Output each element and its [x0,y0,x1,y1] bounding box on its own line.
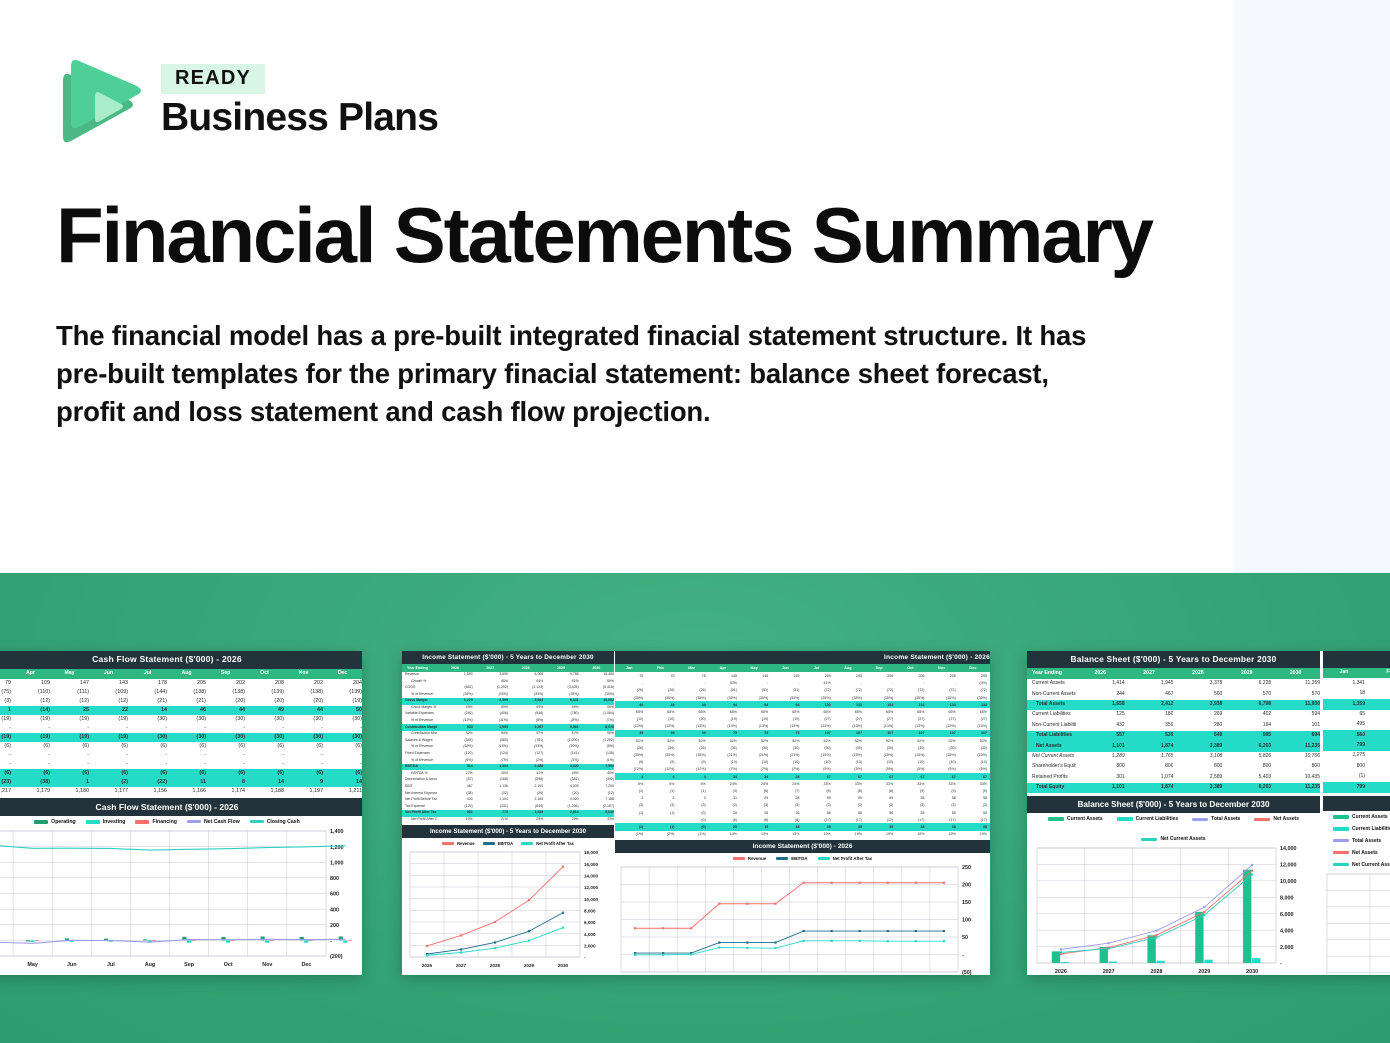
legend-swatch [250,820,264,823]
table-cell: (35%) [709,694,740,701]
table-cell: 570 [1222,689,1271,699]
table-cell: 2,399 [473,698,508,705]
table-cell: 4 [646,773,677,780]
table-cell: 467 [437,784,472,791]
table-cell: 41% [508,770,543,777]
table-cell: 3,938 [1173,700,1222,710]
table-row: 799798 [1323,782,1390,792]
svg-text:-: - [1280,961,1282,967]
table-cell: - [167,724,206,733]
table-cell: (144) [128,688,167,697]
table-cell: 49% [579,770,614,777]
brand-name: Business Plans [161,98,438,139]
table-cell: - [615,680,646,687]
table-cell: (13%) [959,723,990,730]
table-cell: 205 [803,672,834,679]
svg-text:(50): (50) [962,970,972,975]
table-cell: (26) [615,744,646,751]
balance-sheet-title: Balance Sheet ($'000) - 5 Years to Decem… [1027,651,1320,668]
table-row: Gross Margin1,2292,3993,9436,34110,062 [402,698,614,705]
table-cell: 19 [740,823,771,830]
table-cell: 46 [167,706,206,715]
legend-swatch [1141,838,1157,841]
table-cell: 11,359 [1271,679,1320,689]
table-cell: 94 [709,701,740,708]
legend-swatch [521,842,533,845]
table-cell: (1) [615,809,646,816]
table-cell: 50 [323,706,362,715]
table-cell: (20) [245,697,284,706]
table-row: Salaries & Wages(345)(565)(781)(1,000)(1… [402,738,614,745]
table-cell: (13%) [615,723,646,730]
table-cell: (38) [11,778,50,787]
column-header-mar: Mar [678,664,709,672]
legend-swatch [1333,827,1349,831]
table-cell: (11%) [473,718,508,725]
table-cell: (30) [128,733,167,742]
table-cell: 489 [1370,720,1390,730]
table-cell: - [740,680,771,687]
row-label: Fixed Expenses [402,751,437,758]
row-label: Contribution Margin % [402,731,437,738]
table-cell: 560 [1173,689,1222,699]
table-cell: (780) [543,711,578,718]
table-cell: (2) [1370,772,1390,782]
table-cell: (139) [323,688,362,697]
table-cell: (6) [0,742,11,751]
table-cell: 39 [803,823,834,830]
table-cell: - [865,680,896,687]
table-row: Current Assets1,4141,9453,3786,22811,359 [1027,679,1320,689]
table-cell: 67 [803,773,834,780]
table-cell: (10) [834,759,865,766]
table-cell: - [0,724,11,733]
table-cell: 59 [834,795,865,802]
table-row: 757575145145145205205205205205205 [615,672,990,679]
table-title-row [1323,651,1390,668]
table-cell: 65% [709,708,740,715]
legend-label: Current Assets [1067,816,1103,822]
table-cell: 52% [740,737,771,744]
table-cell: (18%) [437,744,472,751]
table-cell: 55 [896,809,927,816]
table-cell: (30) [865,744,896,751]
table-cell: 1,166 [167,787,206,796]
table-row: Net Interest Expense(38)(32)(26)(20)(12) [402,790,614,797]
table-cell: 65% [508,705,543,712]
table-cell: 5,561 [543,724,578,731]
income-5yr-table: Income Statement ($'000) - 5 Years to De… [402,651,614,823]
table-cell: 59 [865,795,896,802]
table-cell: 55 [928,809,959,816]
table-cell: (246) [437,711,472,718]
table-cell: (17) [865,816,896,823]
table-cell: (6) [245,769,284,778]
column-header-aug: Aug [167,669,206,679]
legend-swatch [187,820,201,823]
table-cell: (30) [284,733,323,742]
table-cell: 4 [678,773,709,780]
table-cell: (3) [646,802,677,809]
table-cell: (35%) [543,691,578,698]
table-cell: (7%) [579,718,614,725]
column-header-feb: Feb [646,664,677,672]
table-cell: 1,275 [1323,751,1370,761]
table-cell: (3) [959,802,990,809]
table-cell: (15%) [834,751,865,758]
legend-item: Current Liabilities [1117,816,1179,822]
legend-label: Net Cash Flow [204,819,240,825]
table-cell: 194 [1222,720,1271,730]
table-cell: (35%) [473,691,508,698]
table-cell: 107 [959,730,990,737]
column-header-label [0,669,11,679]
table-cell: 6,006 [508,672,543,679]
table-cell: 595 [1222,731,1271,741]
table-cell: (15%) [865,751,896,758]
row-label: Total Equity [1027,783,1076,793]
table-cell: - [0,751,11,760]
row-label: Current Liabilities [1027,710,1076,720]
table-title-row: Cash Flow Statement ($'000) - 2026 [0,651,362,669]
table-cell: 1,993 [473,724,508,731]
column-header-jun: Jun [89,669,128,679]
legend-item: Closing Cash [250,819,300,825]
row-label: % of Revenue [402,691,437,698]
row-label: Salaries & Wages [402,738,437,745]
legend-label: Operating [51,819,76,825]
table-row: Contribution Margin9831,9933,3975,5618,9… [402,724,614,731]
table-cell: 52% [928,737,959,744]
table-cell: 5,032 [579,810,614,817]
table-cell: 133 [928,701,959,708]
balance-monthly-chart-title [1323,796,1390,811]
svg-text:2028: 2028 [490,963,501,968]
table-cell: 58 [959,795,990,802]
table-cell: 8 [206,778,245,787]
legend-item: Total Assets [1192,816,1240,822]
income-monthly-title: Income Statement ($'000) - 2026 [615,651,990,664]
table-cell: 14 [128,706,167,715]
table-cell: 65 [1323,710,1370,720]
table-cell: (35%) [834,694,865,701]
table-title-row: Income Statement ($'000) - 2026 [615,651,990,664]
svg-text:Dec: Dec [301,962,311,968]
table-cell: (12%) [678,766,709,773]
row-label: Net Current Assets [1027,752,1076,762]
legend-swatch [34,820,48,824]
legend-item: Investing [86,819,126,825]
screenshot-cash-flow[interactable]: Cash Flow Statement ($'000) - 2026AprMay… [0,651,362,975]
table-cell: (3) [771,802,802,809]
table-cell: 10,766 [1271,752,1320,762]
table-cell: 49 [245,706,284,715]
table-cell: 52% [865,737,896,744]
legend-item: Net Profit After Tax [521,841,574,846]
table-cell: (35%) [928,694,959,701]
table-cell: 65% [579,705,614,712]
table-cell: 800 [1125,762,1174,772]
table-cell: (32) [473,790,508,797]
legend-label: Closing Cash [267,819,300,825]
table-cell: (6) [89,742,128,751]
row-label: EBITDA % [402,770,437,777]
row-label: Net Interest Expense [402,790,437,797]
svg-text:250: 250 [962,865,971,871]
table-cell: (13%) [508,744,543,751]
table-cell: 1,515 [508,810,543,817]
table-cell: 1,104 [473,797,508,804]
row-label: Non-Current Liabilities [1027,720,1076,730]
legend-label: EBITDA [791,856,807,861]
table-cell: - [167,760,206,769]
table-cell: (1,084) [579,711,614,718]
table-cell: (9) [678,759,709,766]
legend-label: Financing [152,819,177,825]
table-cell: (120) [437,751,472,758]
table-cell: (19) [771,716,802,723]
play-triangle-logo-icon [57,57,143,145]
table-cell: (6) [245,742,284,751]
table-cell: 24% [771,780,802,787]
table-cell: 798 [1370,782,1390,792]
table-cell: 107 [865,730,896,737]
table-cell: (139) [245,688,284,697]
table-cell: (1%) [543,757,578,764]
table-cell: (26) [678,687,709,694]
table-row: ---93%--41%----(0%) [615,680,990,687]
table-cell: 133 [834,701,865,708]
legend-item: Current Liabilities [1333,826,1390,832]
table-cell: - [284,724,323,733]
income-monthly-chart: 25020015010050-(50)JanFebMarAprMayJunJul… [615,862,990,975]
table-cell: 19% [803,831,834,838]
income-5yr-pane: Income Statement ($'000) - 5 Years to De… [402,651,614,975]
legend-item: EBITDA [776,856,807,861]
table-cell: 8,978 [579,724,614,731]
table-title-row: Balance Sheet ($'000) - 5 Years to Decem… [1027,651,1320,668]
table-cell: 178 [128,679,167,688]
table-cell: (6) [89,769,128,778]
table-cell: 133 [896,701,927,708]
table-row: Non-Current Liabilities432359280194101 [1027,720,1320,730]
table-cell: (30) [323,715,362,724]
column-header-jul: Jul [128,669,167,679]
table-cell: 41% [803,680,834,687]
table-cell: 205 [167,679,206,688]
table-cell: 18 [1323,689,1370,699]
table-cell: 65% [803,708,834,715]
table-cell: 107 [803,730,834,737]
table-cell: - [167,751,206,760]
table-row: (6)(6)(6)(6)(6)(6)(6)(6)(6)(6) [0,769,362,778]
table-cell: 59% [579,678,614,685]
table-cell: (15%) [959,751,990,758]
table-cell: 1,945 [1125,679,1174,689]
table-cell: (35%) [508,691,543,698]
table-cell: (13%) [437,718,472,725]
table-cell [437,678,472,685]
table-cell: 34 [740,773,771,780]
table-cell: 95% [473,678,508,685]
table-row: Growth %95%64%61%59% [402,678,614,685]
table-cell: 28 [771,795,802,802]
legend-label: Net Profit After Tax [536,841,574,846]
screenshot-balance-sheet[interactable]: Balance Sheet ($'000) - 5 Years to Decem… [1027,651,1390,975]
table-cell: 15,480 [579,672,614,679]
table-row: (13%)(13%)(13%)(13%)(13%)(13%)(13%)(13%)… [615,723,990,730]
table-cell: (7) [771,787,802,794]
table-cell: (6) [11,769,50,778]
table-cell: 18 [771,823,802,830]
legend-swatch [1333,863,1349,866]
table-cell: (19) [0,715,11,724]
table-cell: (72) [896,687,927,694]
table-cell: (15%) [803,751,834,758]
table-cell: 5,826 [1222,752,1271,762]
table-cell: (12) [50,697,89,706]
table-cell: (5%) [896,766,927,773]
table-cell: 58 [928,795,959,802]
table-cell: 75 [740,730,771,737]
table-cell: 72 [1370,710,1390,720]
table-cell: (21%) [771,751,802,758]
table-cell: 65% [896,708,927,715]
table-cell: (15%) [896,751,927,758]
table-cell: (8) [771,816,802,823]
svg-text:Jun: Jun [67,962,77,968]
table-cell: 983 [437,724,472,731]
table-cell: (13%) [803,723,834,730]
table-row: (19)(19)(19)(19)(30)(30)(30)(30)(30)(30) [0,715,362,724]
table-cell: (781) [508,738,543,745]
table-cell: (72) [803,687,834,694]
table-cell: 560 [1323,730,1370,740]
table-cell: - [284,751,323,760]
table-cell: (6) [206,769,245,778]
screenshot-income-statement[interactable]: Income Statement ($'000) - 5 Years to De… [402,651,990,975]
table-cell: 39 [834,823,865,830]
table-cell: (12) [11,697,50,706]
table-cell: (21) [167,697,206,706]
table-cell: (35%) [615,694,646,701]
table-cell: 34 [709,773,740,780]
svg-text:1,400: 1,400 [330,829,344,835]
table-row: Total Equity1,1011,8743,3896,20311,235 [1027,783,1320,793]
cash-flow-legend: OperatingInvestingFinancingNet Cash Flow… [0,816,362,826]
table-cell: 799 [1323,782,1370,792]
row-label: % of Revenue [402,744,437,751]
table-cell: 5,403 [1222,772,1271,782]
table-cell: (5,418) [579,685,614,692]
table-cell: 25 [50,706,89,715]
table-cell: (6) [206,742,245,751]
legend-swatch [442,842,454,845]
table-cell: 561 [1370,730,1390,740]
table-cell: (26) [615,687,646,694]
table-row: COGS(662)(1,292)(2,123)(3,425)(5,418) [402,685,614,692]
svg-text:2028: 2028 [1151,969,1163,975]
table-cell: 65% [543,705,578,712]
table-cell: (9) [615,759,646,766]
table-cell: 39 [865,823,896,830]
balance-sheet-table: Balance Sheet ($'000) - 5 Years to Decem… [1027,651,1320,793]
table-cell: (35%) [437,691,472,698]
table-cell: 147 [50,679,89,688]
legend-swatch [483,842,495,845]
table-row: 65%65%65%65%65%65%65%65%65%65%65%65% [615,708,990,715]
table-cell: 19% [865,831,896,838]
table-cell: 9 [284,778,323,787]
table-cell: (6) [284,742,323,751]
table-cell: 107 [896,730,927,737]
table-row: 393939757575107107107107107107 [615,730,990,737]
table-cell: 9,756 [543,672,578,679]
table-row: (1)(1)(0)201918393939383838 [615,823,990,830]
table-cell: 58% [579,731,614,738]
table-cell: (6) [128,769,167,778]
row-label: EBIT [402,784,437,791]
table-cell: (3) [928,802,959,809]
table-cell: 94 [740,701,771,708]
table-cell: (9) [896,787,927,794]
table-row: --(0)(8)(8)(8)(17)(17)(17)(17)(17)(17) [615,816,990,823]
table-cell: 38 [959,823,990,830]
svg-text:18,000: 18,000 [584,850,598,855]
table-cell: (3) [678,802,709,809]
table-cell: (27) [865,716,896,723]
legend-swatch [776,857,788,860]
table-row: (26)(26)(26)(51)(51)(51)(72)(72)(72)(72)… [615,687,990,694]
legend-swatch [86,820,100,824]
table-cell: 33% [928,780,959,787]
table-cell: 3 [678,795,709,802]
column-header-2027: 2027 [1125,668,1174,678]
table-cell: (5%) [803,766,834,773]
table-row: Non-Current Assets244467560570570 [1027,689,1320,699]
table-cell: (19) [11,715,50,724]
table-cell: 1,179 [11,787,50,796]
svg-text:2,000: 2,000 [1280,945,1294,951]
table-cell: (23) [0,778,11,787]
table-cell: - [284,760,323,769]
table-cell: (6) [323,742,362,751]
table-cell: 24% [709,780,740,787]
table-cell: (30) [771,744,802,751]
table-cell: 180 [1125,710,1174,720]
svg-text:400: 400 [330,907,339,913]
table-cell: (8) [865,787,896,794]
table-cell: (110) [11,688,50,697]
table-cell: (3) [0,697,11,706]
table-cell: (2) [89,778,128,787]
table-cell: 67 [865,773,896,780]
row-label: Tax Expense [402,803,437,810]
table-cell: 67 [896,773,927,780]
svg-text:(200): (200) [330,954,343,960]
table-cell: 2,589 [1173,772,1222,782]
table-cell: 52% [437,731,472,738]
table-cell: 2,191 [508,784,543,791]
table-cell: (35%) [740,694,771,701]
table-cell: (30) [245,715,284,724]
page-title: Financial Statements Summary [56,196,1176,274]
table-cell: 1,359 [1323,699,1370,709]
row-label: EBITDA [402,764,437,771]
table-cell: (1%) [678,831,709,838]
column-header-2028: 2028 [1173,668,1222,678]
table-row: 799798 [1323,741,1390,751]
